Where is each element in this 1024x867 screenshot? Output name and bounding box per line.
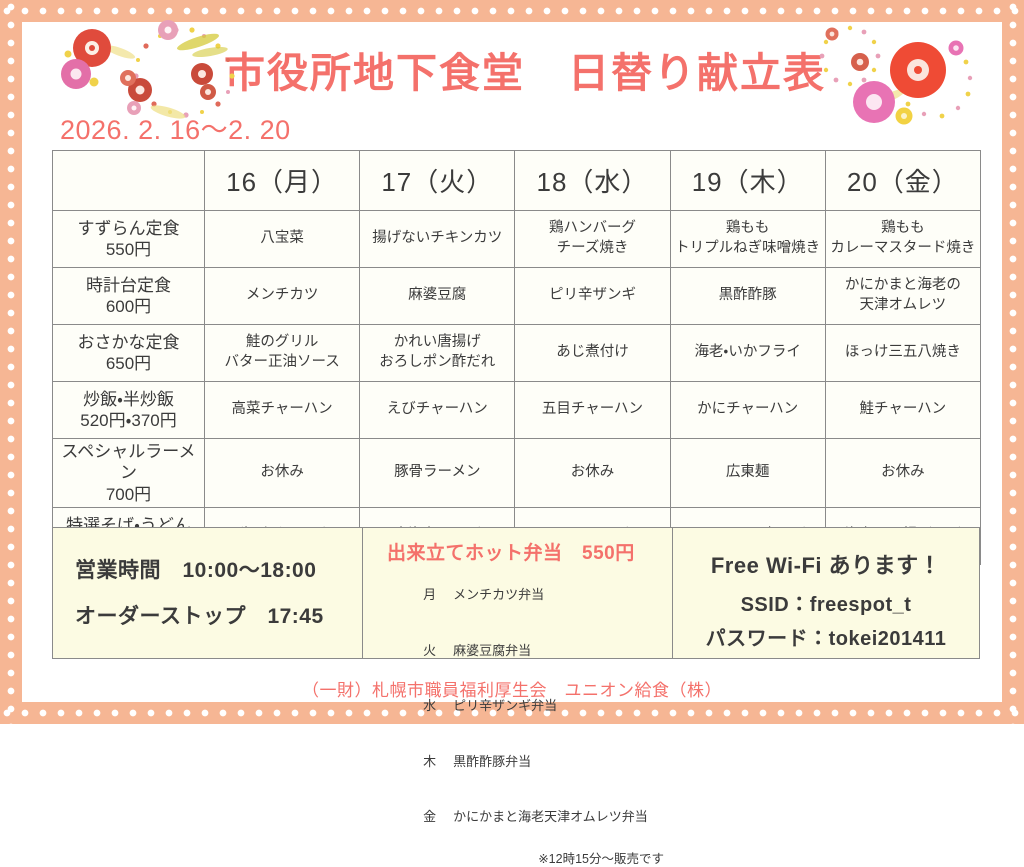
list-item: 木黒酢酢豚弁当 [387,734,672,789]
dish-cell: あじ煮付け [515,325,670,382]
dish-cell: メンチカツ [205,268,360,325]
wifi-panel: Free Wi-Fi あります！ SSID：freespot_t パスワード：t… [673,528,979,658]
bento-name: メンチカツ弁当 [453,587,544,602]
day-header-fri: 20（金） [825,151,980,211]
dish-cell: かれい唐揚げ おろしポン酢だれ [360,325,515,382]
info-strip: 営業時間 10:00〜18:00 オーダーストップ 17:45 出来立てホット弁… [52,527,980,659]
dish-cell: お休み [515,439,670,508]
wifi-password: パスワード：tokei201411 [673,622,979,651]
dish-cell: 麻婆豆腐 [360,268,515,325]
day-header-mon: 16（月） [205,151,360,211]
dish-cell: えびチャーハン [360,382,515,439]
row-price: 600円 [56,296,201,317]
dish-cell: 鶏もも トリプルねぎ味噌焼き [670,211,825,268]
dish-cell: お休み [205,439,360,508]
dish-cell: 海老・いかフライ [670,325,825,382]
row-price: 520円・370円 [56,410,201,431]
dish-cell: お休み [825,439,980,508]
dish-cell: ピリ辛ザンギ [515,268,670,325]
page-title: 市役所地下食堂 日替り献立表 [224,52,824,95]
row-price: 700円 [56,484,201,505]
day-header-wed: 18（水） [515,151,670,211]
order-stop-text: オーダーストップ 17:45 [75,600,362,630]
wifi-heading: Free Wi-Fi あります！ [673,548,979,580]
row-label-chahan: 炒飯・半炒飯 520円・370円 [53,382,205,439]
bento-day: 月 [423,586,453,604]
hot-bento-title: 出来立てホット弁当 550円 [387,538,672,565]
dish-cell: 鶏ハンバーグ チーズ焼き [515,211,670,268]
hot-bento-list: 月メンチカツ弁当 火麻婆豆腐弁当 水ピリ辛ザンギ弁当 木黒酢酢豚弁当 金かにかま… [377,568,672,845]
row-name: 時計台定食 [86,276,171,295]
row-name: 炒飯・半炒飯 [83,390,174,409]
dish-cell: ほっけ三五八焼き [825,325,980,382]
table-header-row: 16（月） 17（火） 18（水） 19（木） 20（金） [53,151,981,211]
dish-cell: かにかまと海老の 天津オムレツ [825,268,980,325]
hot-bento-note: ※12時15分〜販売です [377,848,672,867]
weekly-menu-table: 16（月） 17（火） 18（水） 19（木） 20（金） すずらん定食 550… [52,150,981,565]
plum-blossom-wreath-right-icon [796,18,982,146]
row-name: すずらん定食 [78,219,180,238]
table-row: 時計台定食 600円 メンチカツ 麻婆豆腐 ピリ辛ザンギ 黒酢酢豚 かにかまと海… [53,268,981,325]
bento-name: 麻婆豆腐弁当 [453,643,531,658]
row-name: スペシャルラーメン [61,442,195,482]
dish-cell: 鮭のグリル バター正油ソース [205,325,360,382]
bento-day: 木 [423,753,453,771]
row-price: 550円 [56,239,201,260]
list-item: 金かにかまと海老天津オムレツ弁当 [387,789,672,844]
row-label-suzuran: すずらん定食 550円 [53,211,205,268]
row-price: 650円 [56,353,201,374]
list-item: 月メンチカツ弁当 [387,568,672,623]
dish-cell: 八宝菜 [205,211,360,268]
table-row: スペシャルラーメン 700円 お休み 豚骨ラーメン お休み 広東麺 お休み [53,439,981,508]
dish-cell: 豚骨ラーメン [360,439,515,508]
row-name: おさかな定食 [78,333,180,352]
plum-blossom-wreath-left-icon [42,12,252,132]
bento-name: かにかまと海老天津オムレツ弁当 [453,809,648,824]
table-row: おさかな定食 650円 鮭のグリル バター正油ソース かれい唐揚げ おろしポン酢… [53,325,981,382]
dish-cell: 黒酢酢豚 [670,268,825,325]
table-row: すずらん定食 550円 八宝菜 揚げないチキンカツ 鶏ハンバーグ チーズ焼き 鶏… [53,211,981,268]
dish-cell: 鶏もも カレーマスタード焼き [825,211,980,268]
bento-name: 黒酢酢豚弁当 [453,754,531,769]
menu-poster: 市役所地下食堂 日替り献立表 2026. 2. 16〜2. 20 16（月） 1… [0,0,1024,724]
row-label-tokeidai: 時計台定食 600円 [53,268,205,325]
business-hours-text: 営業時間 10:00〜18:00 [75,554,362,584]
dish-cell: 広東麺 [670,439,825,508]
row-label-special-ramen: スペシャルラーメン 700円 [53,439,205,508]
row-label-osakana: おさかな定食 650円 [53,325,205,382]
footer-credit: （一財）札幌市職員福利厚生会 ユニオン給食（株） [0,676,1024,701]
bento-day: 火 [423,642,453,660]
table-row: 炒飯・半炒飯 520円・370円 高菜チャーハン えびチャーハン 五目チャーハン… [53,382,981,439]
dish-cell: 五目チャーハン [515,382,670,439]
dish-cell: 高菜チャーハン [205,382,360,439]
dish-cell: 鮭チャーハン [825,382,980,439]
business-hours-panel: 営業時間 10:00〜18:00 オーダーストップ 17:45 [53,528,363,658]
dish-cell: かにチャーハン [670,382,825,439]
table-corner-cell [53,151,205,211]
menu-table-body: すずらん定食 550円 八宝菜 揚げないチキンカツ 鶏ハンバーグ チーズ焼き 鶏… [53,211,981,565]
day-header-thu: 19（木） [670,151,825,211]
bento-day: 金 [423,808,453,826]
hot-bento-panel: 出来立てホット弁当 550円 月メンチカツ弁当 火麻婆豆腐弁当 水ピリ辛ザンギ弁… [363,528,673,658]
dish-cell: 揚げないチキンカツ [360,211,515,268]
list-item: 火麻婆豆腐弁当 [387,623,672,678]
wifi-ssid: SSID：freespot_t [673,588,979,617]
day-header-tue: 17（火） [360,151,515,211]
